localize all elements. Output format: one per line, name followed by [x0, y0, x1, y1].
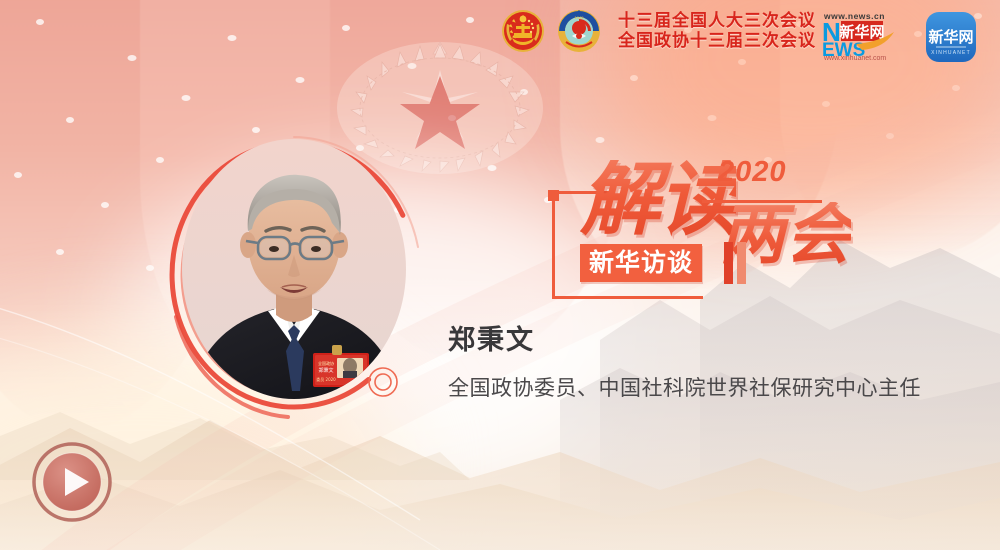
- xinhuanet-app-icon[interactable]: 新华网 XINHUANET: [925, 11, 977, 63]
- title-bar-decoration: [724, 242, 733, 284]
- svg-text:全国政协: 全国政协: [318, 360, 334, 366]
- meeting-title: 十三届全国人大三次会议 全国政协十三届三次会议: [618, 11, 816, 51]
- guest-portrait: 全国政协 郑秉文 委员 2020: [168, 135, 420, 407]
- guest-name: 郑秉文: [448, 325, 921, 357]
- svg-text:新华网: 新华网: [839, 23, 884, 41]
- guest-role: 全国政协委员、中国社科院世界社保研究中心主任: [448, 372, 921, 402]
- svg-text:www.xinhuanet.com: www.xinhuanet.com: [823, 55, 886, 62]
- meeting-title-line2: 全国政协十三届三次会议: [618, 31, 816, 51]
- play-button[interactable]: [31, 441, 113, 523]
- xinhua-news-logo[interactable]: www.news.cn N EWS 新华网 www.xinhuanet.com: [822, 10, 914, 62]
- title-year: 2020: [718, 156, 787, 189]
- program-title-art: 解读 2020 两会 新华访谈: [552, 150, 852, 300]
- guest-photo: 全国政协 郑秉文 委员 2020: [182, 139, 406, 399]
- poster-stage: 1949 十三届全国人大三次会议 全国政协十三届三次会议 www.news.cn…: [0, 0, 1000, 550]
- title-bracket-square: [548, 190, 559, 201]
- circle-accent-decoration: [366, 365, 400, 399]
- guest-caption: 郑秉文 全国政协委员、中国社科院世界社保研究中心主任: [448, 325, 921, 402]
- svg-text:XINHUANET: XINHUANET: [931, 50, 971, 56]
- meeting-title-line1: 十三届全国人大三次会议: [618, 11, 816, 31]
- title-bar-decoration: [737, 242, 746, 284]
- cppcc-emblem-icon: 1949: [556, 6, 602, 56]
- national-emblem-of-china-icon: [500, 6, 546, 56]
- svg-text:1949: 1949: [575, 15, 585, 20]
- header-branding: 1949 十三届全国人大三次会议 全国政协十三届三次会议: [500, 6, 816, 56]
- svg-text:郑秉文: 郑秉文: [318, 367, 333, 374]
- svg-text:委员 2020: 委员 2020: [316, 376, 336, 382]
- program-badge: 新华访谈: [580, 244, 702, 282]
- svg-text:新华网: 新华网: [928, 28, 973, 46]
